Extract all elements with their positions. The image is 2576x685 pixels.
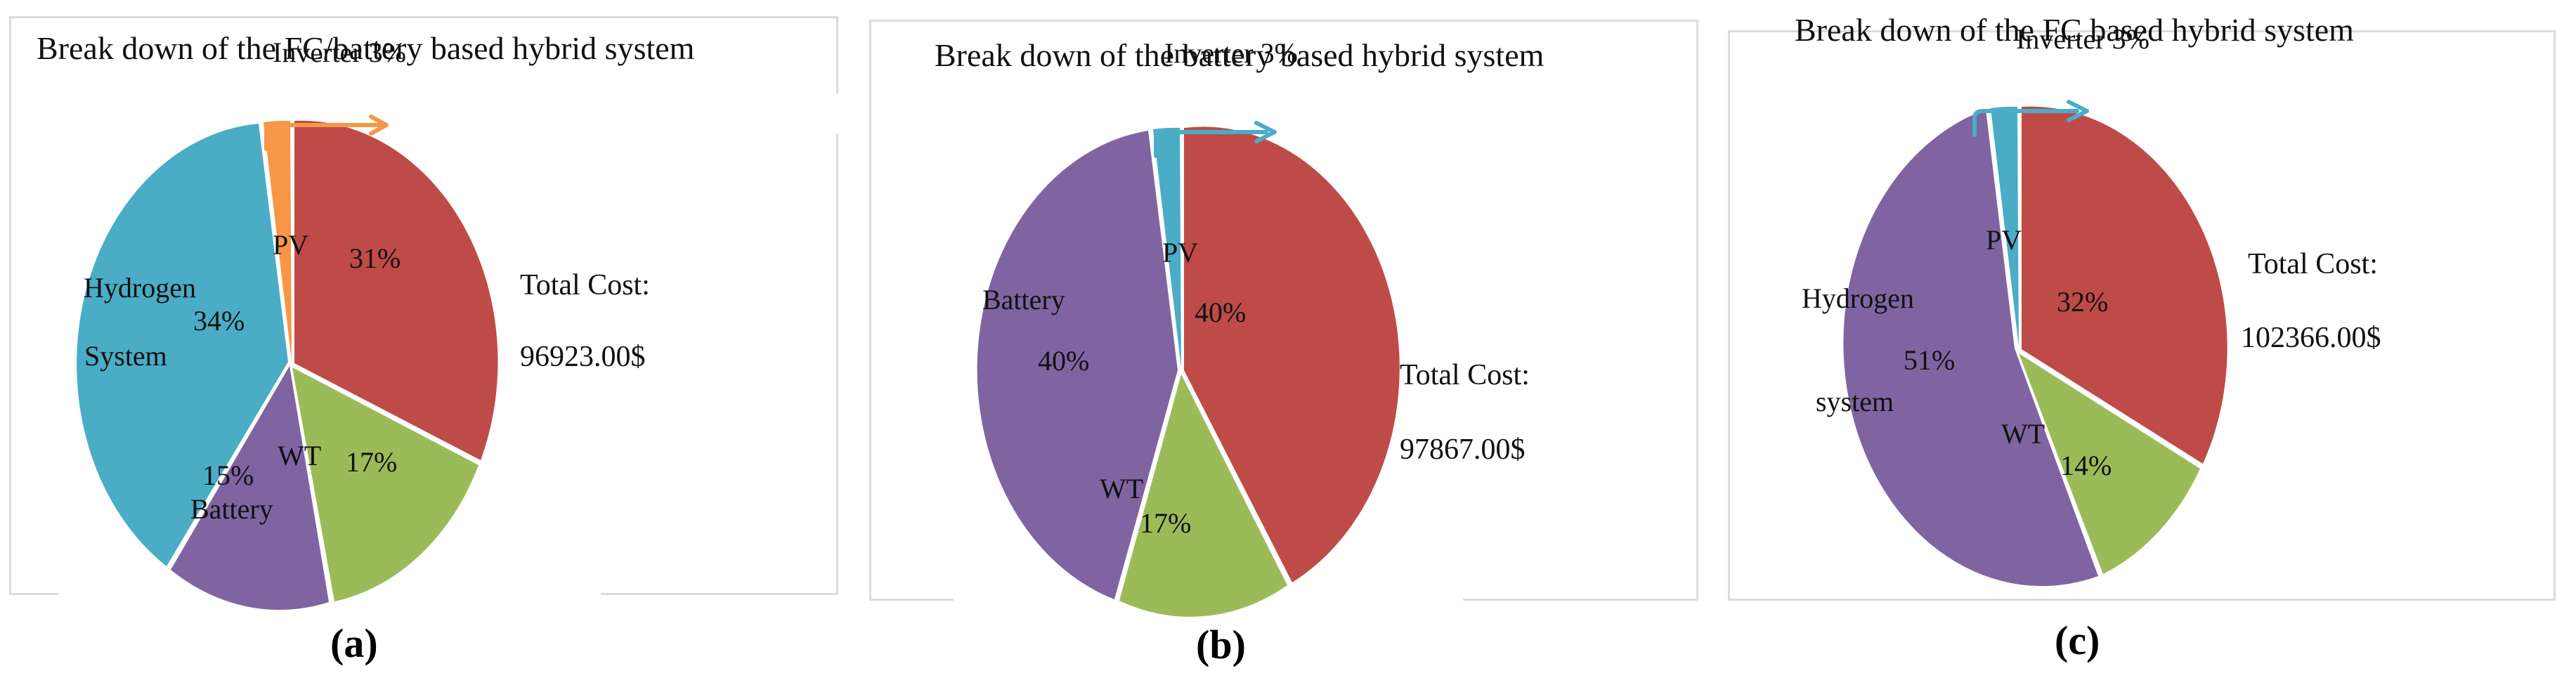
panel-c-inverter-callout-label: Inverter 3% [2016, 25, 2149, 53]
panel-c-border-left [1728, 30, 1730, 601]
panel-b: Break down of the battery based hybrid s… [859, 0, 1717, 685]
panel-a-border-right-upper [836, 16, 838, 93]
panel-c-label-pv-name: PV [1986, 226, 2022, 254]
panel-b-border-bottom-right [1463, 599, 1698, 601]
panel-a-label-wt-pct: 17% [346, 448, 397, 476]
panel-c-total-cost-value: 102366.00$ [2241, 323, 2381, 353]
panel-b-total-cost-value: 97867.00$ [1400, 435, 1526, 464]
pie-chart-c [1823, 105, 2216, 590]
panel-a-label-battery-name: Battery [190, 495, 273, 523]
panel-c-border-right [2554, 30, 2556, 601]
panel-b-border-right [1696, 20, 1698, 601]
panel-a-label-hydrogen-pct: 34% [193, 307, 245, 335]
panel-a-border-top [9, 16, 838, 18]
panel-a-caption: (a) [330, 620, 378, 667]
panel-c-border-bottom [1728, 599, 2556, 601]
panel-b-label-wt-pct: 17% [1140, 509, 1191, 537]
panel-a-inverter-callout-label: Inverter 3% [273, 39, 406, 67]
panel-a-total-cost-label: Total Cost: [520, 270, 650, 300]
panel-c-label-wt-pct: 14% [2060, 452, 2112, 480]
panel-c-pie [1823, 105, 2216, 590]
panel-a-label-wt-name: WT [278, 442, 321, 470]
panel-c-label-hydrogen-line1: Hydrogen [1802, 285, 1914, 313]
panel-b-label-pv-pct: 40% [1195, 299, 1246, 327]
panel-b-inverter-callout-label: Inverter 3% [1164, 39, 1298, 67]
panel-a-border-bottom-left [9, 593, 58, 595]
panel-a-border-right-lower [836, 133, 838, 595]
panel-b-border-top [869, 20, 1698, 22]
panel-a-border-left [9, 16, 11, 595]
panel-a: Break down of the FC/battery based hybri… [0, 0, 859, 685]
panel-c-label-hydrogen-line2: system [1816, 388, 1894, 416]
panel-c-label-hydrogen-pct: 51% [1904, 346, 1955, 374]
panel-a-label-pv-pct: 31% [349, 244, 401, 273]
figure-canvas: Break down of the FC/battery based hybri… [0, 0, 2576, 685]
panel-a-label-pv-name: PV [273, 231, 308, 259]
panel-a-label-battery-pct: 15% [202, 462, 254, 490]
panel-b-total-cost-label: Total Cost: [1400, 360, 1530, 390]
panel-b-label-battery-pct: 40% [1038, 347, 1089, 375]
panel-b-border-left [869, 20, 871, 601]
panel-b-caption: (b) [1196, 621, 1246, 668]
panel-a-label-hydrogen-line1: Hydrogen [84, 274, 196, 302]
panel-b-border-bottom-left [869, 599, 954, 601]
panel-c: Break down of the FC based hybrid system [1717, 0, 2576, 685]
panel-b-label-battery-name: Battery [982, 286, 1065, 314]
panel-a-border-bottom-right [601, 593, 838, 595]
panel-c-label-pv-pct: 32% [2057, 288, 2108, 316]
panel-c-caption: (c) [2055, 617, 2100, 664]
panel-c-label-wt-name: WT [2001, 420, 2045, 448]
panel-a-label-hydrogen-line2: System [84, 342, 167, 370]
panel-b-label-pv-name: PV [1162, 239, 1198, 267]
panel-c-total-cost-label: Total Cost: [2248, 249, 2378, 279]
panel-a-total-cost-value: 96923.00$ [520, 342, 646, 372]
panel-b-label-wt-name: WT [1100, 475, 1143, 503]
